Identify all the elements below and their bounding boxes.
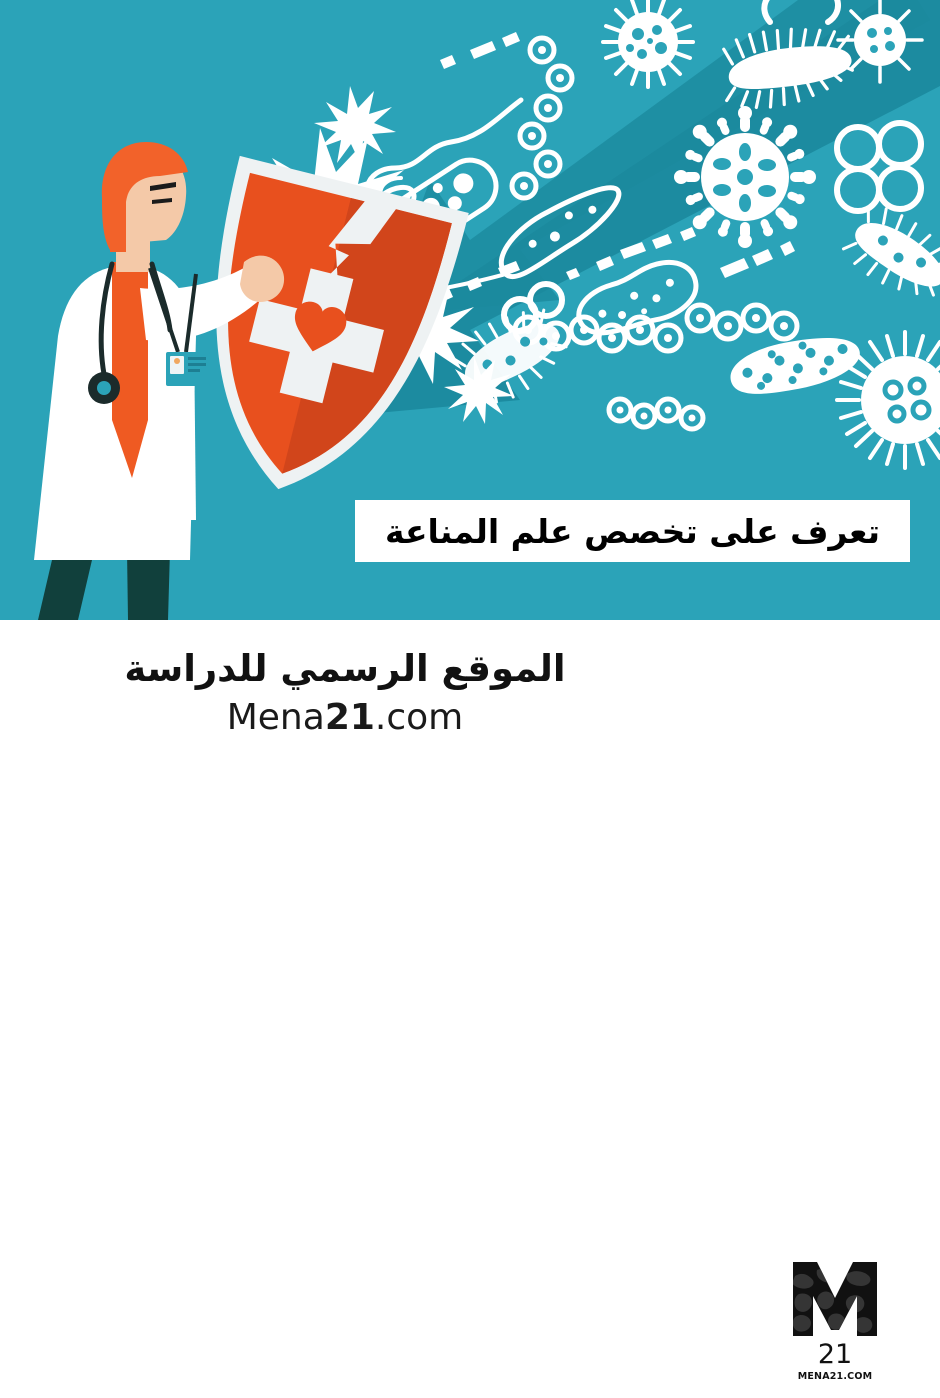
germ-spiky-round-top xyxy=(603,0,693,87)
germ-coronavirus xyxy=(674,106,816,248)
footer-text-block: الموقع الرسمي للدراسة Mena21.com xyxy=(0,648,690,738)
footer-website-accent: 21 xyxy=(325,697,375,738)
logo-number: 21 xyxy=(818,1341,852,1368)
brand-logo[interactable]: 21 MENA21.COM xyxy=(760,1258,910,1398)
logo-domain-text: MENA21.COM xyxy=(798,1371,873,1382)
stethoscope-bell-inner xyxy=(97,381,111,395)
footer-bar: الموقع الرسمي للدراسة Mena21.com xyxy=(0,620,940,788)
footer-tagline: الموقع الرسمي للدراسة xyxy=(124,648,565,691)
footer-website[interactable]: Mena21.com xyxy=(227,697,464,738)
footer-website-suffix: .com xyxy=(375,697,463,738)
headline-text: تعرف على تخصص علم المناعة xyxy=(385,515,880,548)
footer-website-prefix: Mena xyxy=(227,697,325,738)
logo-m-icon xyxy=(787,1258,883,1340)
headline-banner: تعرف على تخصص علم المناعة xyxy=(355,500,910,562)
germ-spiky-small-topright xyxy=(838,0,922,82)
hero-illustration: تعرف على تخصص علم المناعة xyxy=(0,0,940,620)
poster: تعرف على تخصص علم المناعة الموقع الرسمي … xyxy=(0,0,940,788)
doctor-sideburn xyxy=(110,198,126,252)
